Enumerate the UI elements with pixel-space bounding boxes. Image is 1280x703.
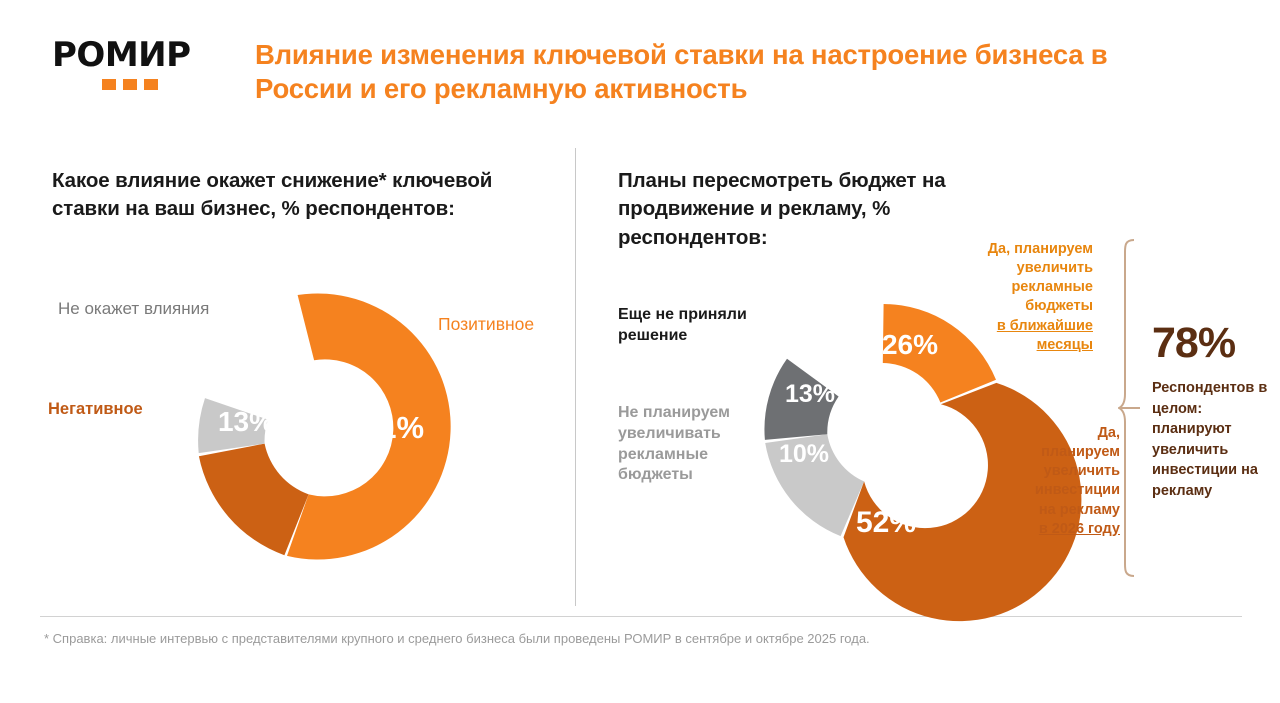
summary-text: Респондентов в целом: планируют увеличит… xyxy=(1152,378,1270,501)
slice-value-negative: 13% xyxy=(218,406,274,437)
label-no-impact: Не окажет влияния xyxy=(58,298,278,320)
infographic-page: РОМИР Влияние изменения ключевой ставки … xyxy=(0,0,1280,703)
label-line-underlined: месяцы xyxy=(965,336,1093,355)
label-line: увеличить xyxy=(965,259,1093,278)
horizontal-divider xyxy=(40,616,1242,617)
logo-wordmark: РОМИР xyxy=(52,38,212,72)
summary-percentage: 78% xyxy=(1152,322,1235,365)
label-line: Да, xyxy=(1020,424,1120,443)
logo-squares-icon xyxy=(102,79,212,90)
slice-negative xyxy=(199,444,309,556)
label-line: бюджеты xyxy=(965,297,1093,316)
page-title: Влияние изменения ключевой ставки на нас… xyxy=(255,38,1125,107)
label-line: на рекламу xyxy=(1020,501,1120,520)
label-line: рекламные xyxy=(965,278,1093,297)
slice-value-yes-months: 26% xyxy=(882,329,938,360)
slice-value-positive: 81% xyxy=(362,410,424,445)
romir-logo: РОМИР xyxy=(52,38,212,90)
footnote: * Справка: личные интервью с представите… xyxy=(44,631,1144,648)
label-undecided: Еще не приняли решение xyxy=(618,305,778,347)
label-line-underlined: в ближайшие xyxy=(965,317,1093,336)
label-line-underlined: в 2026 году xyxy=(1020,520,1120,539)
slice-value-no-impact: 6% xyxy=(233,352,268,379)
label-negative: Негативное xyxy=(48,399,198,420)
donut-chart-impact: 81% 13% 6% xyxy=(188,288,463,563)
slice-value-no-plan: 10% xyxy=(779,440,829,468)
left-section-heading: Какое влияние окажет снижение* ключевой … xyxy=(52,167,552,224)
slice-value-undecided: 13% xyxy=(785,380,835,408)
label-line: Да, планируем xyxy=(965,240,1093,259)
label-yes-increase-2026: Да, планируем увеличить инвестиции на ре… xyxy=(1020,424,1120,539)
curly-brace-icon xyxy=(1118,238,1144,583)
label-no-plan: Не планируем увеличивать рекламные бюдже… xyxy=(618,403,768,486)
vertical-divider xyxy=(575,148,576,606)
label-line: увеличить xyxy=(1020,462,1120,481)
label-yes-increase-months: Да, планируем увеличить рекламные бюджет… xyxy=(965,240,1093,355)
slice-value-yes-2026: 52% xyxy=(856,506,916,539)
label-line: планируем xyxy=(1020,443,1120,462)
label-line: инвестиции xyxy=(1020,481,1120,500)
label-positive: Позитивное xyxy=(438,313,608,336)
